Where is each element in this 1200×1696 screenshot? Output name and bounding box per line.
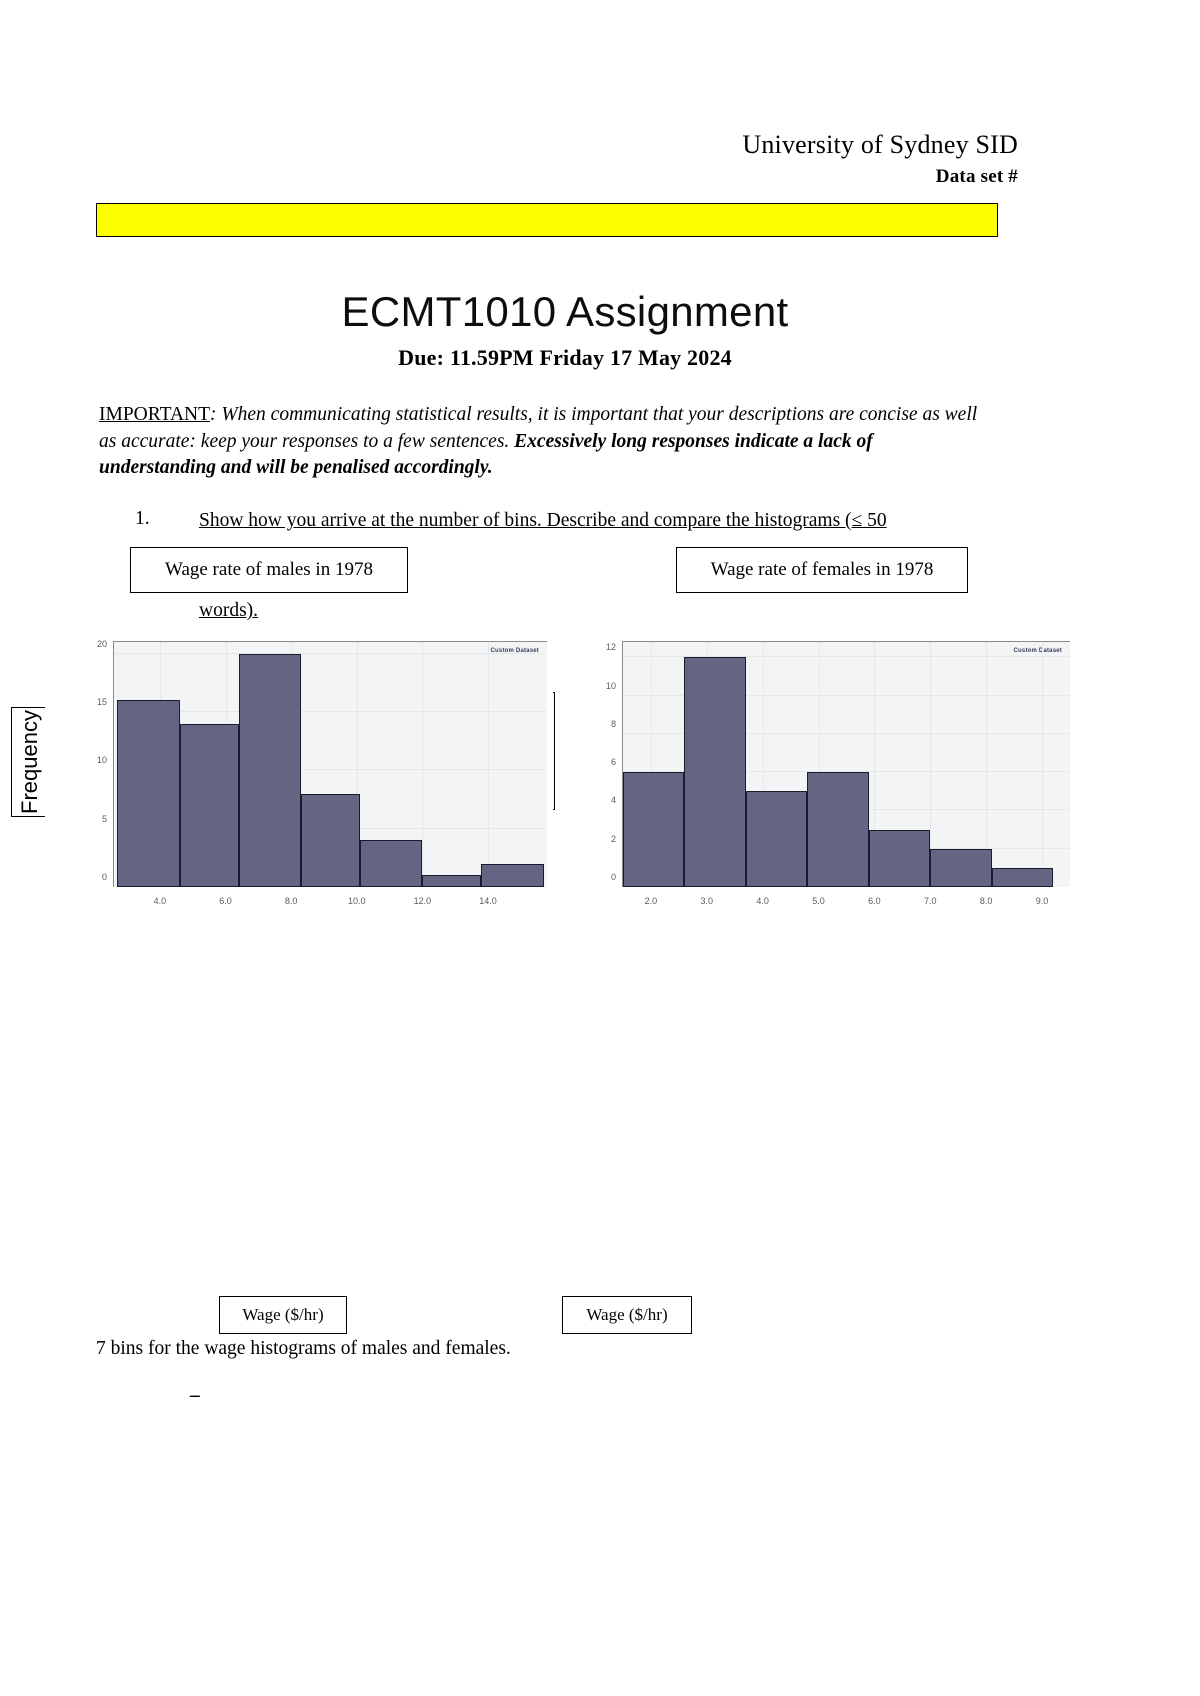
header-dataset: Data set #	[0, 166, 1018, 189]
female-chart-title-box: Wage rate of females in 1978	[676, 547, 968, 593]
x-axis-tick-label: 7.0	[924, 887, 937, 906]
left-wage-label-box: Wage ($/hr)	[219, 1296, 347, 1334]
y-axis-tick-label: 8	[611, 719, 623, 729]
x-axis-tick-label: 6.0	[868, 887, 881, 906]
x-axis-tick-label: 3.0	[701, 887, 714, 906]
y-axis-tick-label: 6	[611, 757, 623, 767]
females-plot-area: Custom Dataset 024681012 2.03.04.05.06.0…	[622, 641, 1070, 887]
left-frequency-label-text: Frequency	[17, 710, 43, 814]
x-axis-tick-label: 10.0	[348, 887, 366, 906]
document-header: University of Sydney SID Data set #	[0, 130, 1018, 189]
x-axis-tick-label: 5.0	[812, 887, 825, 906]
y-axis-tick-label: 10	[97, 755, 114, 765]
males-x-axis: 4.06.08.010.012.014.0	[114, 642, 547, 887]
males-plot-outer: Custom Dataset 05101520 4.06.08.010.012.…	[45, 631, 553, 946]
question-text-line2: words).	[199, 600, 258, 622]
important-label: IMPORTANT	[99, 404, 210, 425]
females-plot-outer: Custom Dataset 024681012 2.03.04.05.06.0…	[576, 631, 1076, 946]
document-page: University of Sydney SID Data set # ECMT…	[0, 0, 1200, 1696]
x-axis-tick-label: 6.0	[219, 887, 232, 906]
y-axis-tick-label: 5	[102, 814, 114, 824]
y-axis-tick-label: 20	[97, 639, 114, 649]
important-colon: :	[210, 404, 221, 425]
females-x-axis: 2.03.04.05.06.07.08.09.0	[623, 642, 1070, 887]
right-wage-label-text: Wage ($/hr)	[586, 1305, 667, 1325]
male-chart-title-text: Wage rate of males in 1978	[165, 559, 373, 581]
female-chart-title-text: Wage rate of females in 1978	[711, 559, 934, 581]
trailing-dash: –	[190, 1385, 200, 1407]
left-wage-label-text: Wage ($/hr)	[242, 1305, 323, 1325]
x-axis-tick-label: 9.0	[1036, 887, 1049, 906]
right-wage-label-box: Wage ($/hr)	[562, 1296, 692, 1334]
y-axis-tick-label: 15	[97, 697, 114, 707]
x-axis-tick-label: 12.0	[414, 887, 432, 906]
y-axis-tick-label: 0	[611, 872, 623, 882]
y-axis-tick-label: 0	[102, 872, 114, 882]
page-title: ECMT1010 Assignment	[0, 288, 1130, 336]
x-axis-tick-label: 8.0	[285, 887, 298, 906]
x-axis-tick-label: 2.0	[645, 887, 658, 906]
left-frequency-label-box: Frequency	[11, 707, 49, 817]
important-paragraph: IMPORTANT: When communicating statistica…	[99, 402, 979, 482]
x-axis-tick-label: 14.0	[479, 887, 497, 906]
histogram-females: Custom Dataset 024681012 2.03.04.05.06.0…	[576, 631, 1076, 946]
due-date: Due: 11.59PM Friday 17 May 2024	[0, 345, 1130, 371]
y-axis-tick-label: 12	[606, 642, 623, 652]
y-axis-tick-label: 4	[611, 795, 623, 805]
bins-caption: 7 bins for the wage histograms of males …	[96, 1338, 511, 1360]
y-axis-tick-label: 2	[611, 834, 623, 844]
x-axis-tick-label: 8.0	[980, 887, 993, 906]
males-plot-area: Custom Dataset 05101520 4.06.08.010.012.…	[113, 641, 547, 887]
yellow-highlight-bar	[96, 203, 998, 237]
male-chart-title-box: Wage rate of males in 1978	[130, 547, 408, 593]
x-axis-tick-label: 4.0	[756, 887, 769, 906]
y-axis-tick-label: 10	[606, 681, 623, 691]
header-institution: University of Sydney SID	[0, 130, 1018, 160]
question-number: 1.	[135, 508, 150, 530]
histogram-males: Custom Dataset 05101520 4.06.08.010.012.…	[45, 631, 553, 946]
question-text-line1: Show how you arrive at the number of bin…	[199, 508, 999, 534]
x-axis-tick-label: 4.0	[154, 887, 167, 906]
